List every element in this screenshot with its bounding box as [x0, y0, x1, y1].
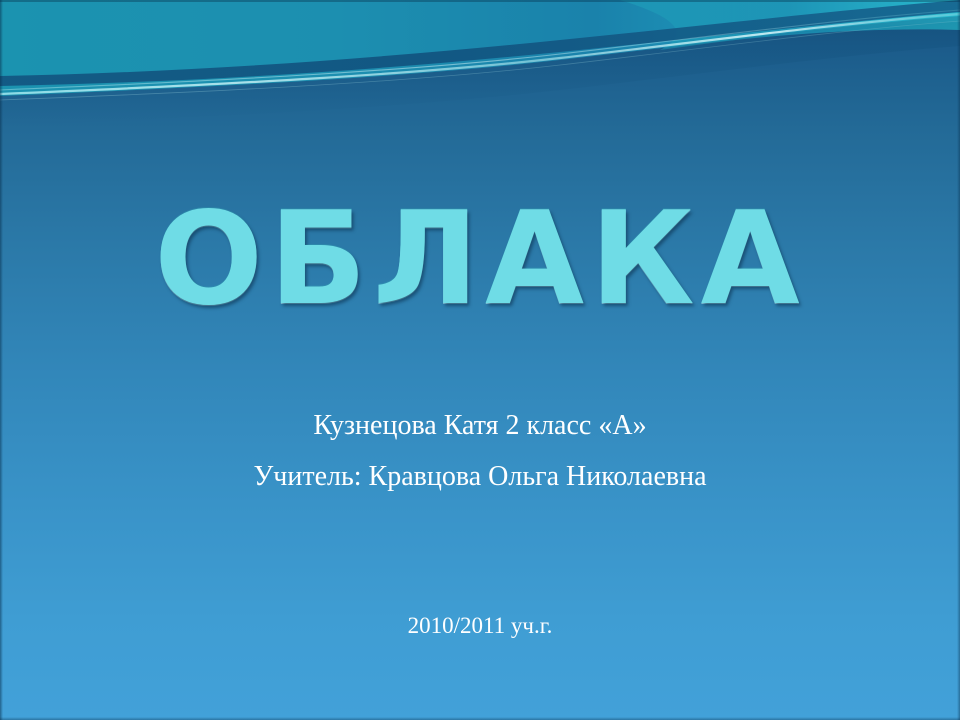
- presentation-slide: ОБЛАКА Кузнецова Катя 2 класс «А» Учител…: [0, 0, 960, 720]
- flow-wave-decoration: [0, 0, 960, 160]
- academic-year-line: 2010/2011 уч.г.: [0, 611, 960, 641]
- subtitle-line-author: Кузнецова Катя 2 класс «А»: [0, 400, 960, 451]
- slide-edge-top: [0, 0, 960, 2]
- academic-year-text: 2010/2011 уч.г.: [408, 613, 553, 638]
- subtitle-line-teacher: Учитель: Кравцова Ольга Николаевна: [0, 451, 960, 502]
- slide-subtitle: Кузнецова Катя 2 класс «А» Учитель: Крав…: [0, 400, 960, 502]
- slide-title: ОБЛАКА: [0, 196, 960, 324]
